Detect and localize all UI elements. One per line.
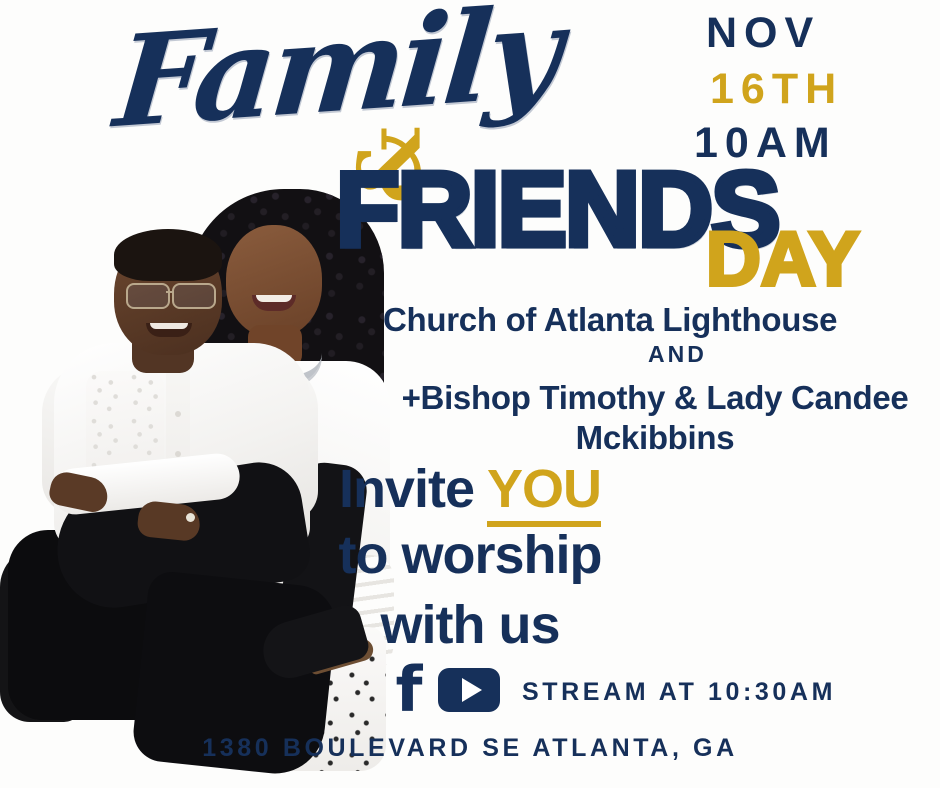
invite-prefix: Invite	[339, 459, 487, 519]
venue-address: 1380 BOULEVARD SE ATLANTA, GA	[0, 736, 940, 761]
eyeglasses-right-lens	[172, 283, 216, 309]
event-month: NOV	[706, 12, 820, 55]
eyeglasses-left-lens	[126, 283, 170, 309]
invite-you-highlight: YOU	[487, 459, 601, 527]
youtube-icon[interactable]	[438, 668, 500, 712]
family-headline: Family	[111, 0, 562, 145]
stream-time-text: STREAM AT 10:30AM	[522, 680, 836, 705]
day-headline: DAY	[706, 222, 859, 298]
man-hair	[114, 229, 222, 281]
woman-face	[226, 225, 322, 337]
church-name: Church of Atlanta Lighthouse	[383, 302, 837, 338]
and-label: AND	[648, 343, 707, 366]
play-triangle-icon	[462, 678, 482, 702]
invite-line: Invite YOU	[0, 462, 940, 516]
eyeglasses-bridge	[166, 291, 174, 293]
man-shirt-button	[175, 411, 181, 417]
man-teeth	[150, 323, 188, 329]
man-shirt-button	[175, 451, 181, 457]
invite-line-two: to worship	[0, 528, 940, 582]
woman-teeth	[256, 295, 292, 302]
facebook-icon[interactable]: f	[392, 666, 426, 714]
event-day: 16TH	[710, 68, 843, 111]
family-friends-day-flyer: Family & FRIENDS DAY NOV 16TH 10AM Churc…	[0, 0, 940, 788]
pastors-name: +Bishop Timothy & Lady Candee Mckibbins	[377, 378, 933, 459]
invite-line-three: with us	[0, 598, 940, 652]
social-and-stream-row: f STREAM AT 10:30AM	[392, 666, 836, 714]
event-time: 10AM	[694, 122, 837, 165]
